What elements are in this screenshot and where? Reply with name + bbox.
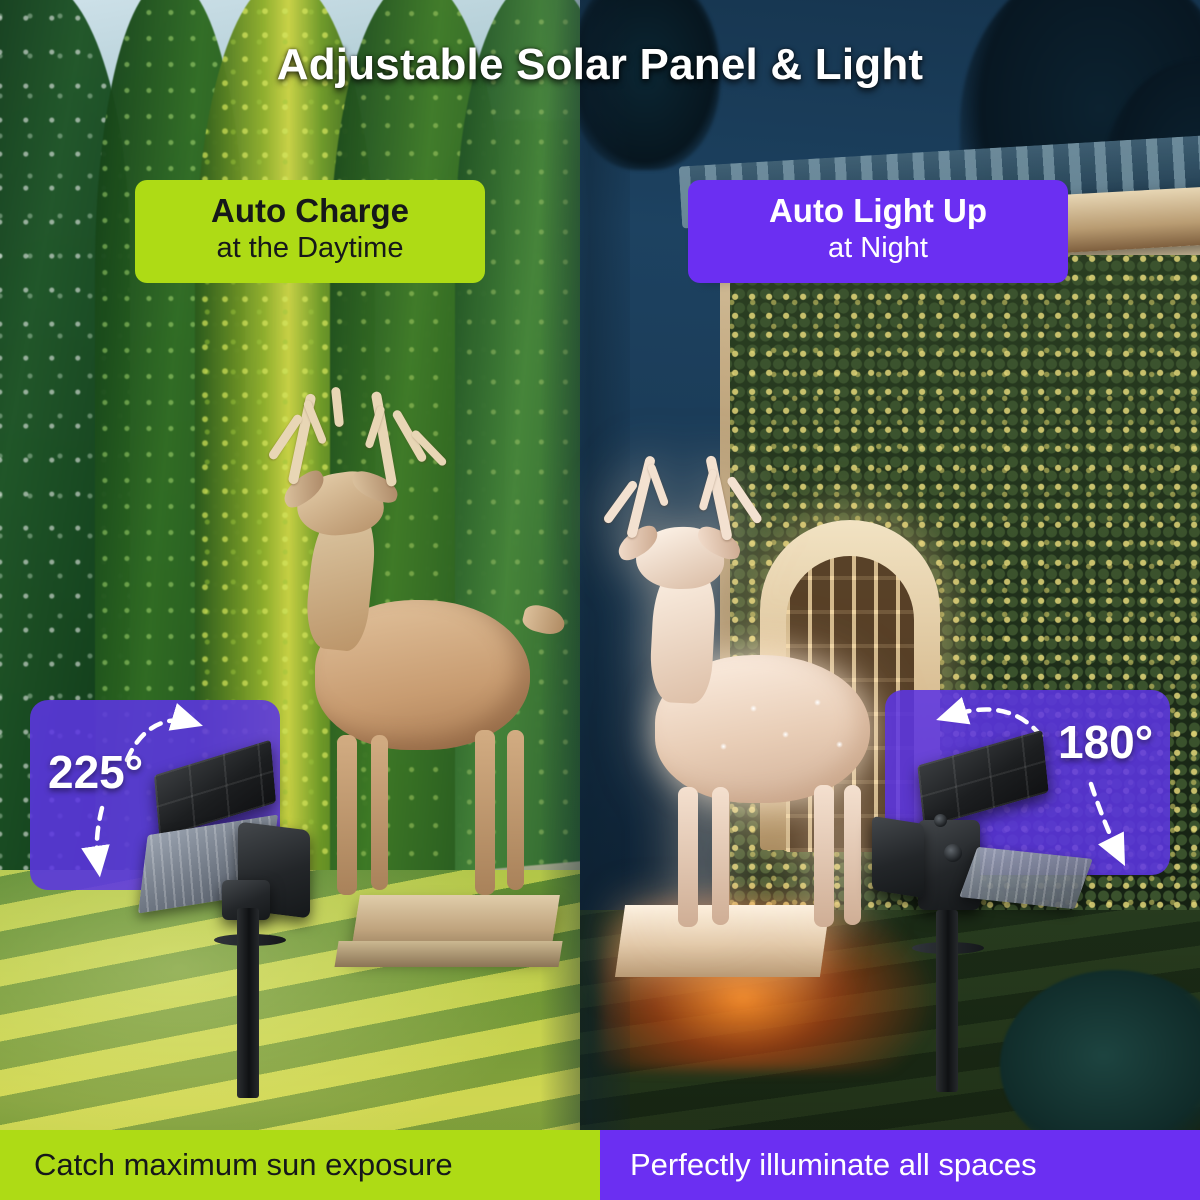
ground-stake [936, 910, 958, 1092]
ground-stake [237, 908, 259, 1098]
badge-night-line1: Auto Light Up [710, 194, 1046, 229]
badge-night-line2: at Night [710, 232, 1046, 265]
badge-auto-light-up: Auto Light Up at Night [688, 180, 1068, 283]
badge-day-line2: at the Daytime [157, 232, 463, 265]
solar-panel-top [917, 730, 1049, 828]
light-sparkle [750, 705, 757, 712]
light-sparkle [720, 743, 727, 750]
deer-antler [331, 387, 344, 428]
caption-night: Perfectly illuminate all spaces [600, 1130, 1200, 1200]
deer-leg [507, 730, 524, 890]
badge-day-line1: Auto Charge [157, 194, 463, 229]
deer-tail [520, 602, 567, 637]
light-sparkle [782, 731, 789, 738]
lamp-head [872, 816, 924, 898]
caption-day: Catch maximum sun exposure [0, 1130, 600, 1200]
deer-antler [647, 463, 670, 507]
day-solar-light [148, 748, 358, 1098]
page-title: Adjustable Solar Panel & Light [0, 40, 1200, 90]
adjust-knob [944, 844, 962, 862]
deer-leg [844, 785, 861, 925]
deer-leg [712, 787, 729, 925]
light-sparkle [836, 741, 843, 748]
badge-auto-charge: Auto Charge at the Daytime [135, 180, 485, 283]
light-sparkle [814, 699, 821, 706]
hinge-screw [934, 814, 947, 827]
deer-leg [371, 735, 388, 890]
deer-antler [726, 475, 764, 525]
product-infographic: 225° 180° Adjustable So [0, 0, 1200, 1200]
night-solar-light [862, 742, 1082, 1092]
night-deer-statue [600, 455, 900, 955]
angle-value-left: 225° [48, 745, 143, 799]
deer-leg [475, 730, 495, 895]
deer-leg [814, 785, 834, 927]
deer-leg [678, 787, 698, 927]
